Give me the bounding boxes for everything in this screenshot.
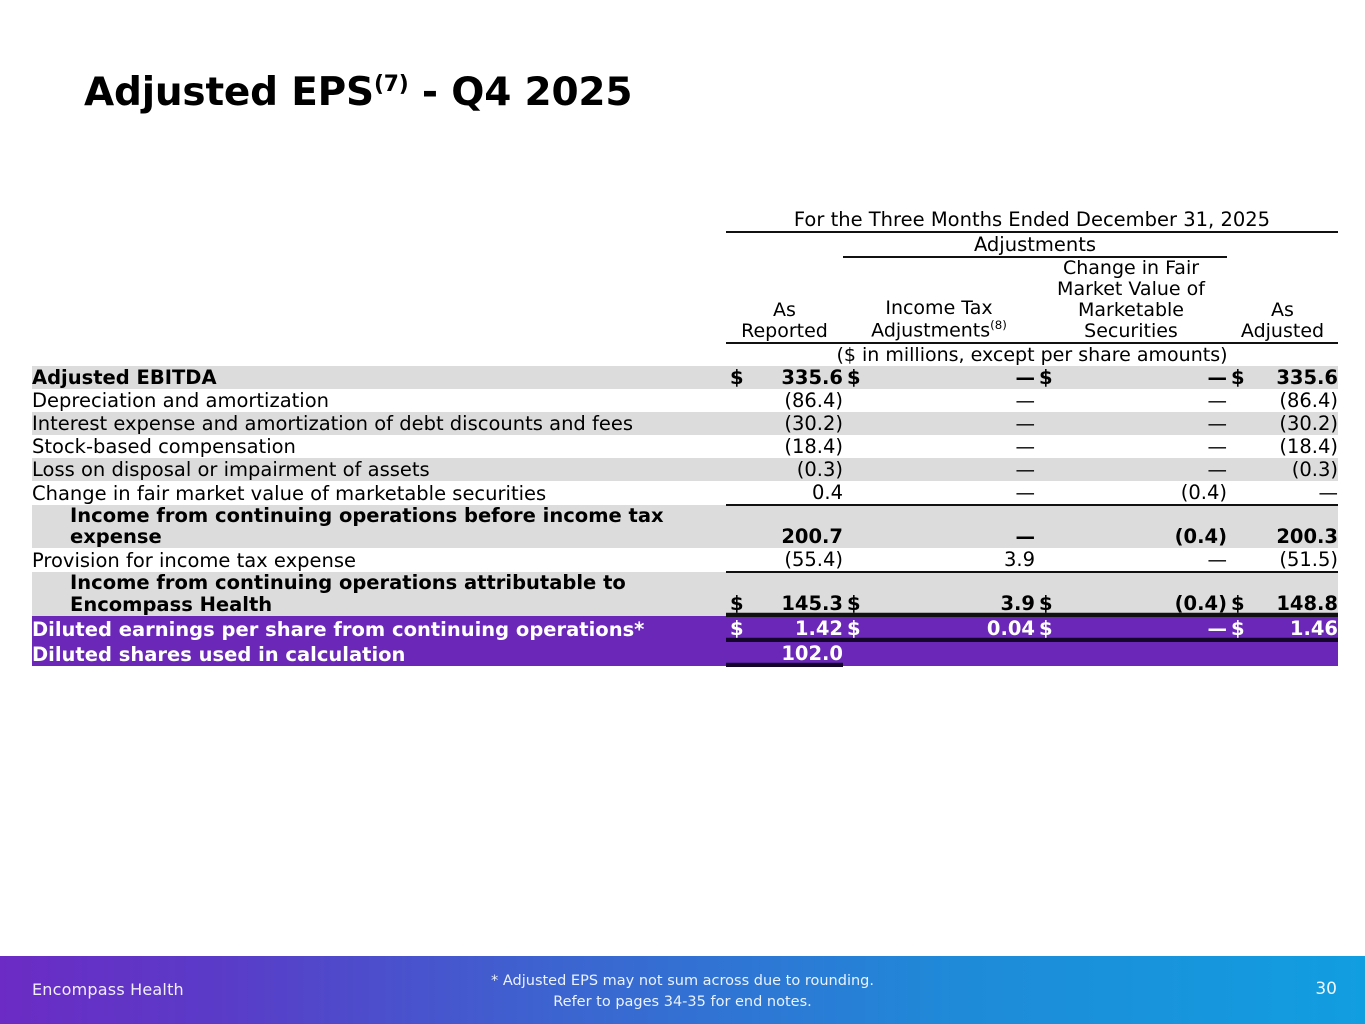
row-label: Diluted shares used in calculation [32, 641, 726, 666]
cell-as-reported: $1.42 [726, 616, 843, 641]
cell-value: 3.9 [1000, 592, 1035, 615]
header-period-label: For the Three Months Ended December 31, … [726, 208, 1338, 232]
cell-as-adjusted: $335.6 [1227, 366, 1338, 389]
column-header-as-reported: As Reported [726, 257, 843, 343]
header-group-blank [32, 232, 726, 257]
cell-as-reported: 0.4 [726, 481, 843, 505]
cell-value: — [1208, 548, 1228, 571]
cell-as-adjusted: (18.4) [1227, 435, 1338, 458]
currency-symbol: $ [726, 592, 744, 615]
cell-income-tax-adjustments: $3.9 [843, 572, 1035, 616]
header-corner-blank [32, 208, 726, 232]
cell-as-reported: (30.2) [726, 412, 843, 435]
row-label-line: Encompass Health [70, 593, 272, 616]
cell-value: (0.4) [1175, 592, 1227, 615]
currency-symbol: $ [1227, 592, 1245, 615]
cell-value: 200.3 [1276, 525, 1338, 548]
cell-as-reported: $145.3 [726, 572, 843, 616]
cell-as-reported: (86.4) [726, 389, 843, 412]
cell-as-adjusted: (86.4) [1227, 389, 1338, 412]
column-header-income-tax-superscript: (8) [990, 318, 1007, 332]
cell-change-in-fmv: $— [1035, 616, 1227, 641]
column-header-change-in-fmv: Change in Fair Market Value of Marketabl… [1035, 257, 1227, 343]
cell-value: (0.4) [1181, 481, 1227, 504]
slide-footer: Encompass Health * Adjusted EPS may not … [0, 956, 1365, 1024]
cell-as-adjusted: $148.8 [1227, 572, 1338, 616]
header-group-pad-right [1227, 232, 1338, 257]
cell-value: (30.2) [784, 412, 843, 435]
cell-value: (55.4) [784, 548, 843, 571]
cell-value: 1.46 [1290, 617, 1338, 640]
cell-change-in-fmv [1035, 641, 1227, 666]
cell-as-adjusted [1227, 641, 1338, 666]
column-header-fmv-line3: Marketable [1078, 299, 1184, 321]
cell-income-tax-adjustments: — [843, 412, 1035, 435]
cell-value: (0.4) [1175, 525, 1227, 548]
header-columns-blank [32, 257, 726, 343]
table-row: Stock-based compensation(18.4)——(18.4) [32, 435, 1338, 458]
currency-symbol: $ [1227, 617, 1245, 640]
table-row: Provision for income tax expense(55.4)3.… [32, 548, 1338, 572]
cell-value: 148.8 [1276, 592, 1338, 615]
cell-value: — [1016, 389, 1036, 412]
row-label-line: expense [70, 525, 162, 548]
cell-value: 200.7 [781, 525, 843, 548]
row-label: Diluted earnings per share from continui… [32, 616, 726, 641]
footnote: * Adjusted EPS may not sum across due to… [0, 971, 1365, 1013]
column-header-as-reported-line1: As [773, 299, 796, 321]
column-header-fmv-line1: Change in Fair [1063, 257, 1199, 279]
header-units-blank [32, 343, 726, 366]
column-header-fmv-line4: Securities [1084, 320, 1178, 342]
cell-change-in-fmv: (0.4) [1035, 481, 1227, 505]
cell-change-in-fmv: $— [1035, 366, 1227, 389]
row-label: Depreciation and amortization [32, 389, 726, 412]
table-row: Depreciation and amortization(86.4)——(86… [32, 389, 1338, 412]
cell-value: — [1016, 435, 1036, 458]
page-number: 30 [1315, 979, 1337, 999]
cell-value: — [1208, 435, 1228, 458]
cell-value: 0.04 [987, 617, 1035, 640]
cell-as-reported: (18.4) [726, 435, 843, 458]
cell-value: 335.6 [781, 366, 843, 389]
column-header-income-tax-line1: Income Tax [885, 297, 992, 319]
cell-income-tax-adjustments: — [843, 435, 1035, 458]
page-title: Adjusted EPS(7) - Q4 2025 [84, 70, 632, 115]
cell-as-adjusted: (0.3) [1227, 458, 1338, 481]
cell-income-tax-adjustments: $— [843, 366, 1035, 389]
cell-value: 0.4 [812, 481, 843, 504]
cell-value: (18.4) [1279, 435, 1338, 458]
cell-value: 3.9 [1004, 548, 1035, 571]
cell-as-adjusted: (30.2) [1227, 412, 1338, 435]
column-header-as-adjusted-line2: Adjusted [1241, 320, 1324, 342]
currency-symbol: $ [843, 366, 861, 389]
row-label: Income from continuing operations attrib… [32, 572, 726, 616]
page-title-superscript: (7) [374, 72, 409, 97]
currency-symbol: $ [843, 592, 861, 615]
cell-income-tax-adjustments: — [843, 505, 1035, 549]
currency-symbol: $ [1227, 366, 1245, 389]
page-title-rest: - Q4 2025 [409, 70, 633, 115]
row-label: Stock-based compensation [32, 435, 726, 458]
cell-change-in-fmv: $(0.4) [1035, 572, 1227, 616]
table-row: Loss on disposal or impairment of assets… [32, 458, 1338, 481]
row-label-line: Income from continuing operations attrib… [70, 571, 626, 594]
column-header-income-tax-adjustments: Income Tax Adjustments(8) [843, 257, 1035, 343]
cell-as-reported: 200.7 [726, 505, 843, 549]
currency-symbol: $ [1035, 366, 1053, 389]
table-row: Diluted earnings per share from continui… [32, 616, 1338, 641]
adjusted-eps-table: For the Three Months Ended December 31, … [32, 208, 1338, 667]
cell-value: — [1208, 389, 1228, 412]
cell-value: — [1016, 366, 1036, 389]
column-header-fmv-line2: Market Value of [1057, 278, 1205, 300]
header-row-units: ($ in millions, except per share amounts… [32, 343, 1338, 366]
cell-value: (86.4) [784, 389, 843, 412]
currency-symbol: $ [726, 366, 744, 389]
row-label: Change in fair market value of marketabl… [32, 481, 726, 505]
table-row: Interest expense and amortization of deb… [32, 412, 1338, 435]
cell-value: (51.5) [1279, 548, 1338, 571]
cell-change-in-fmv: — [1035, 548, 1227, 572]
cell-change-in-fmv: — [1035, 435, 1227, 458]
currency-symbol: $ [843, 617, 861, 640]
cell-change-in-fmv: — [1035, 458, 1227, 481]
header-group-pad [726, 232, 843, 257]
cell-value: (0.3) [1292, 458, 1338, 481]
cell-income-tax-adjustments: — [843, 481, 1035, 505]
column-header-as-reported-line2: Reported [741, 320, 828, 342]
slide-root: Adjusted EPS(7) - Q4 2025 For the Three … [0, 0, 1365, 1024]
cell-value: — [1208, 412, 1228, 435]
cell-as-reported: $335.6 [726, 366, 843, 389]
currency-symbol: $ [726, 617, 744, 640]
column-header-as-adjusted: As Adjusted [1227, 257, 1338, 343]
cell-income-tax-adjustments: — [843, 389, 1035, 412]
cell-as-adjusted: (51.5) [1227, 548, 1338, 572]
cell-change-in-fmv: — [1035, 412, 1227, 435]
cell-value: (86.4) [1279, 389, 1338, 412]
cell-value: — [1016, 412, 1036, 435]
cell-value: 1.42 [795, 617, 843, 640]
table-row: Income from continuing operations before… [32, 505, 1338, 549]
cell-value: — [1208, 458, 1228, 481]
cell-as-adjusted: $1.46 [1227, 616, 1338, 641]
cell-value: (30.2) [1279, 412, 1338, 435]
cell-value: (18.4) [784, 435, 843, 458]
cell-as-adjusted: — [1227, 481, 1338, 505]
header-row-period: For the Three Months Ended December 31, … [32, 208, 1338, 232]
table-row: Change in fair market value of marketabl… [32, 481, 1338, 505]
cell-value: 102.0 [781, 642, 843, 665]
table-body: Adjusted EBITDA$335.6$—$—$335.6Depreciat… [32, 366, 1338, 666]
cell-income-tax-adjustments [843, 641, 1035, 666]
row-label-line: Income from continuing operations before… [70, 504, 664, 527]
cell-income-tax-adjustments: 3.9 [843, 548, 1035, 572]
cell-as-reported: (0.3) [726, 458, 843, 481]
footnote-line-2: Refer to pages 34-35 for end notes. [0, 992, 1365, 1013]
table-row: Income from continuing operations attrib… [32, 572, 1338, 616]
cell-change-in-fmv: — [1035, 389, 1227, 412]
row-label: Loss on disposal or impairment of assets [32, 458, 726, 481]
row-label: Provision for income tax expense [32, 548, 726, 572]
cell-as-reported: (55.4) [726, 548, 843, 572]
cell-as-reported: 102.0 [726, 641, 843, 666]
financial-table-container: For the Three Months Ended December 31, … [32, 208, 1338, 667]
row-label: Interest expense and amortization of deb… [32, 412, 726, 435]
cell-value: — [1016, 525, 1036, 548]
column-header-income-tax-line2: Adjustments [871, 320, 990, 342]
footnote-line-1: * Adjusted EPS may not sum across due to… [0, 971, 1365, 992]
cell-value: 335.6 [1276, 366, 1338, 389]
cell-value: — [1208, 617, 1228, 640]
table-row: Adjusted EBITDA$335.6$—$—$335.6 [32, 366, 1338, 389]
header-adjustments-label: Adjustments [843, 232, 1227, 257]
cell-income-tax-adjustments: $0.04 [843, 616, 1035, 641]
header-row-group: Adjustments [32, 232, 1338, 257]
currency-symbol: $ [1035, 592, 1053, 615]
cell-value: — [1016, 458, 1036, 481]
row-label: Income from continuing operations before… [32, 505, 726, 549]
cell-as-adjusted: 200.3 [1227, 505, 1338, 549]
cell-value: (0.3) [797, 458, 843, 481]
cell-income-tax-adjustments: — [843, 458, 1035, 481]
cell-change-in-fmv: (0.4) [1035, 505, 1227, 549]
cell-value: — [1016, 481, 1036, 504]
table-header: For the Three Months Ended December 31, … [32, 208, 1338, 366]
table-row: Diluted shares used in calculation102.0 [32, 641, 1338, 666]
row-label: Adjusted EBITDA [32, 366, 726, 389]
cell-value: 145.3 [781, 592, 843, 615]
header-units-note: ($ in millions, except per share amounts… [726, 343, 1338, 366]
column-header-as-adjusted-line1: As [1271, 299, 1294, 321]
header-row-columns: As Reported Income Tax Adjustments(8) Ch… [32, 257, 1338, 343]
page-title-main: Adjusted EPS [84, 70, 374, 115]
currency-symbol: $ [1035, 617, 1053, 640]
cell-value: — [1208, 366, 1228, 389]
cell-value: — [1319, 481, 1339, 504]
